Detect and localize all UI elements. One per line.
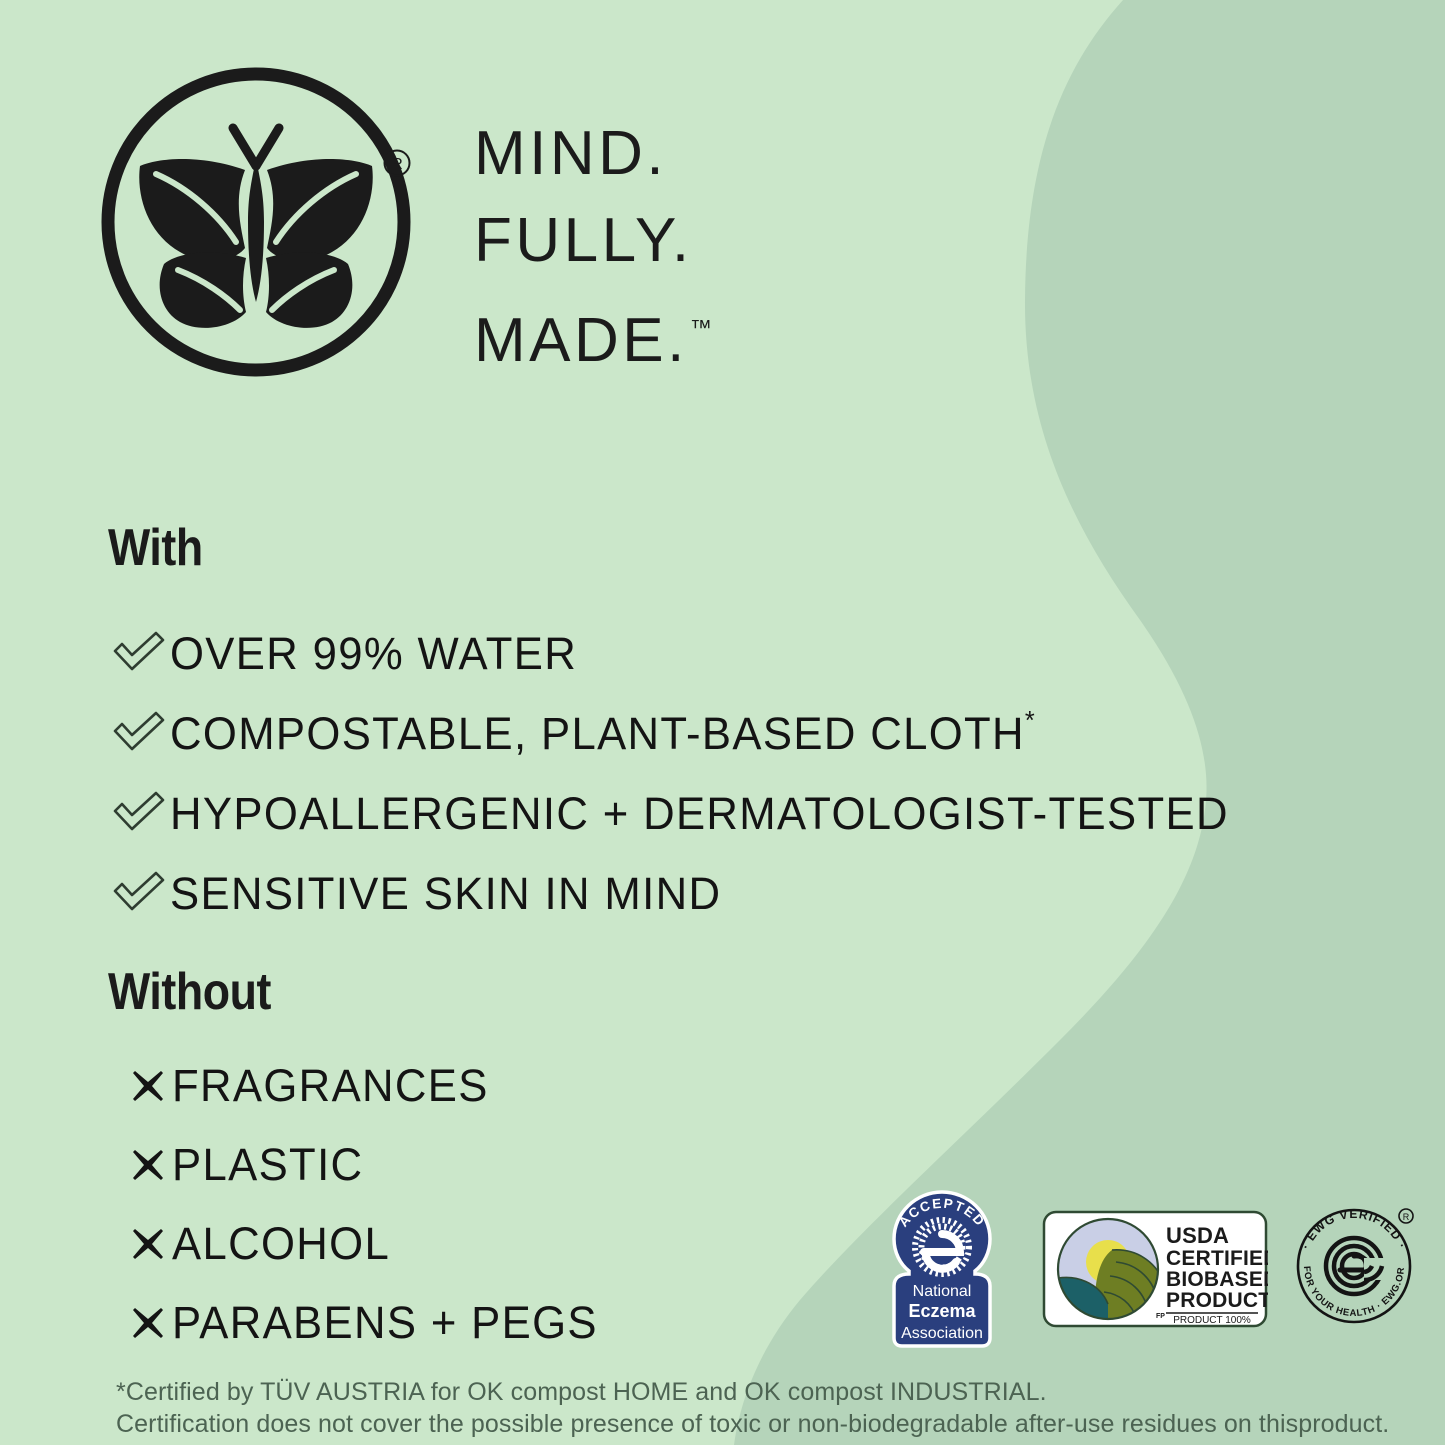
claim-label: PARABENS + PEGS [172, 1297, 598, 1349]
check-outline-icon [108, 786, 170, 838]
without-claims-list: FRAGRANCES PLASTIC ALCOHOL [124, 1046, 611, 1362]
usda-subline: PRODUCT 100% [1173, 1315, 1251, 1326]
footnote-line-1: *Certified by TÜV AUSTRIA for OK compost… [116, 1376, 1316, 1408]
claim-text: SENSITIVE SKIN IN MIND [170, 868, 721, 919]
claim-text: COMPOSTABLE, PLANT-BASED CLOTH [170, 708, 1025, 759]
x-mark-icon [124, 1222, 172, 1266]
claim-text: OVER 99% WATER [170, 628, 577, 679]
svg-text:R: R [391, 156, 403, 173]
claim-label: COMPOSTABLE, PLANT-BASED CLOTH* [170, 705, 1035, 760]
list-item: COMPOSTABLE, PLANT-BASED CLOTH* [108, 692, 1262, 772]
usda-line-2: CERTIFIED [1166, 1247, 1268, 1270]
usda-corner-mark: FP [1156, 1313, 1165, 1320]
wordmark-line-3: MADE.™ [474, 284, 814, 384]
list-item: ALCOHOL [124, 1204, 611, 1283]
without-section-heading: Without [108, 962, 271, 1022]
claim-label: PLASTIC [172, 1139, 363, 1191]
nea-line-2: Eczema [908, 1301, 976, 1321]
national-eczema-association-accepted-seal: ACCEPTED National Eczema Association [876, 1190, 1008, 1348]
check-outline-icon [108, 866, 170, 918]
butterfly-in-circle-logo [96, 62, 416, 382]
claim-label: OVER 99% WATER [170, 625, 577, 680]
nea-line-3: Association [901, 1325, 983, 1342]
check-outline-icon [108, 626, 170, 678]
ewg-registered-symbol: R [1403, 1212, 1410, 1222]
list-item: HYPOALLERGENIC + DERMATOLOGIST-TESTED [108, 772, 1262, 852]
x-mark-icon [124, 1301, 172, 1345]
x-mark-icon [124, 1064, 172, 1108]
usda-certified-biobased-product-seal: FP USDA CERTIFIED BIOBASED PRODUCT PRODU… [1042, 1210, 1268, 1328]
certification-badges: ACCEPTED National Eczema Association [876, 1188, 1416, 1348]
wordmark-line-1: MIND. [474, 110, 814, 197]
list-item: PLASTIC [124, 1125, 611, 1204]
nea-line-1: National [913, 1283, 972, 1300]
footnote-marker: * [1025, 705, 1035, 735]
claim-label: HYPOALLERGENIC + DERMATOLOGIST-TESTED [170, 785, 1229, 840]
x-mark-icon [124, 1143, 172, 1187]
claim-label: SENSITIVE SKIN IN MIND [170, 865, 721, 920]
registered-trademark-icon: R [382, 148, 412, 178]
trademark-symbol: ™ [690, 315, 712, 340]
list-item: FRAGRANCES [124, 1046, 611, 1125]
check-outline-icon [108, 706, 170, 758]
list-item: PARABENS + PEGS [124, 1283, 611, 1362]
usda-line-4: PRODUCT [1166, 1289, 1268, 1312]
brand-lockup: R MIND. FULLY. MADE.™ [96, 62, 816, 402]
footnote-line-2: Certification does not cover the possibl… [116, 1408, 1316, 1440]
wordmark-line-2: FULLY. [474, 197, 814, 284]
list-item: OVER 99% WATER [108, 612, 1262, 692]
product-claims-panel: R MIND. FULLY. MADE.™ With OVER 99% WATE… [0, 0, 1445, 1445]
ewg-verified-seal: · EWG VERIFIED · · FOR YOUR HEALTH · EWG… [1288, 1200, 1420, 1332]
wordmark-line-3-text: MADE. [474, 306, 688, 375]
with-claims-list: OVER 99% WATER COMPOSTABLE, PLANT-BASED … [108, 612, 1262, 932]
usda-line-1: USDA [1166, 1223, 1229, 1248]
footnote-block: *Certified by TÜV AUSTRIA for OK compost… [116, 1376, 1316, 1440]
claim-text: HYPOALLERGENIC + DERMATOLOGIST-TESTED [170, 788, 1229, 839]
claim-label: ALCOHOL [172, 1218, 390, 1270]
usda-line-3: BIOBASED [1166, 1268, 1268, 1291]
with-section-heading: With [108, 518, 203, 578]
wordmark: MIND. FULLY. MADE.™ [474, 110, 814, 384]
claim-label: FRAGRANCES [172, 1060, 489, 1112]
list-item: SENSITIVE SKIN IN MIND [108, 852, 1262, 932]
